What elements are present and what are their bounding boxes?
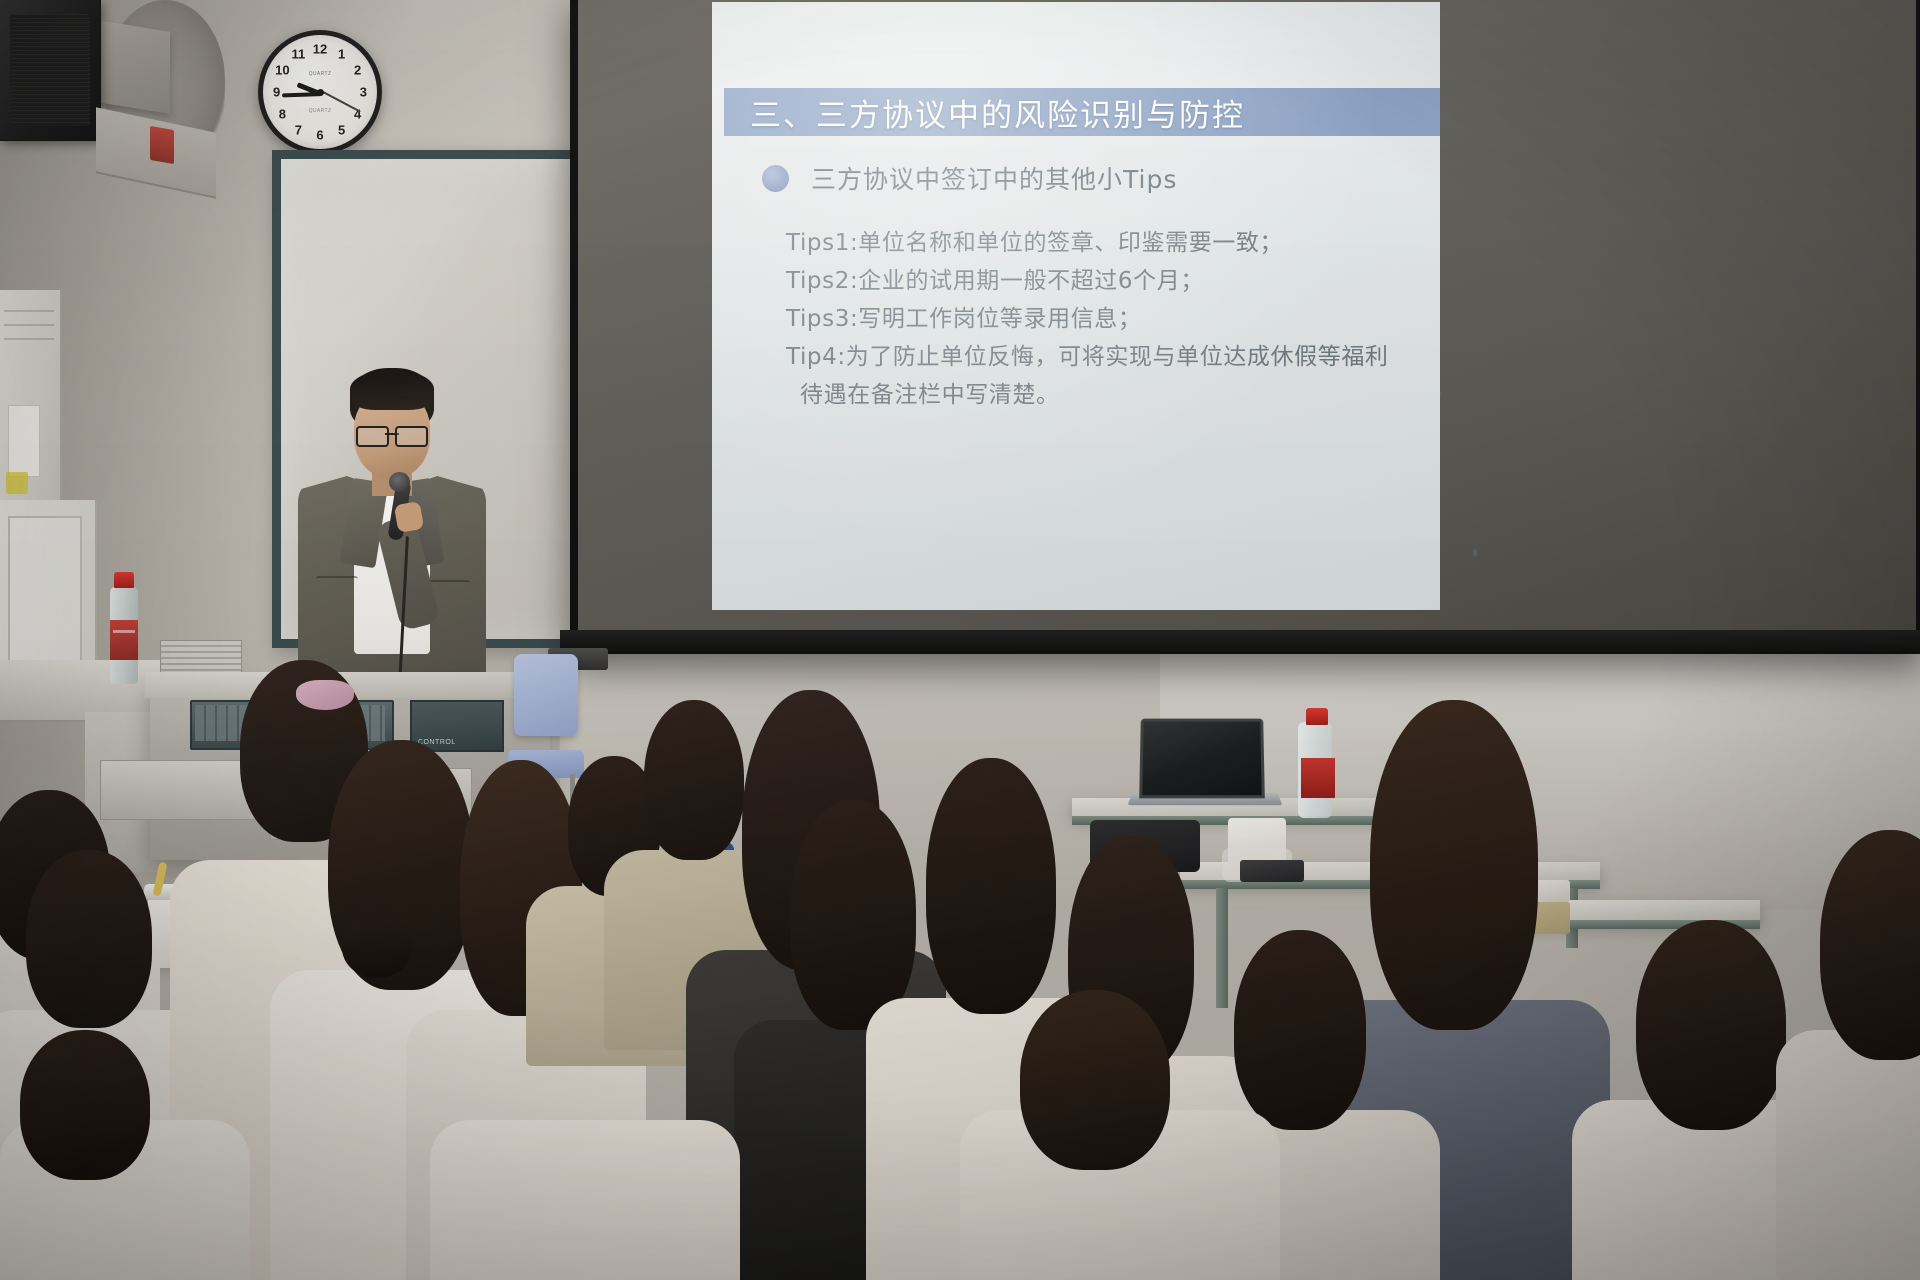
speaker-grille-icon [10, 14, 90, 126]
clock-num-9: 9 [273, 85, 280, 100]
clock-num-2: 2 [354, 63, 361, 78]
speaker-sticker [150, 126, 174, 164]
slide-body-line-2: Tips2:企业的试用期一般不超过6个月； [786, 262, 1406, 300]
screen-bottom-bar [560, 630, 1920, 652]
hair-tie [342, 918, 412, 978]
student-clothing [1776, 1030, 1920, 1280]
presenter-hand [394, 501, 424, 533]
clock-num-1: 1 [338, 47, 345, 62]
clock-num-6: 6 [316, 128, 323, 143]
student-back-of-head [960, 990, 1260, 1280]
slide-body-text: Tips1:单位名称和单位的签章、印鉴需要一致； Tips2:企业的试用期一般不… [786, 224, 1406, 414]
clock-center-hub [317, 89, 324, 96]
slide-body-line-3: Tips3:写明工作岗位等录用信息； [786, 300, 1406, 338]
slide-body-line-5: 待遇在备注栏中写清楚。 [786, 376, 1406, 414]
clock-num-8: 8 [279, 106, 286, 121]
student-back-of-head [430, 1060, 730, 1280]
student-hair [26, 850, 152, 1028]
clock-num-11: 11 [291, 47, 305, 62]
student-hair [1636, 920, 1786, 1130]
speaker-bracket [98, 20, 170, 113]
clock-brand: QUARTZ [309, 71, 332, 77]
presenter-hair-front [350, 370, 434, 410]
slide-bullet-heading: 三方协议中签订中的其他小Tips [762, 160, 1177, 196]
slide-body-line-4: Tip4:为了防止单位反悔，可将实现与单位达成休假等福利 [786, 338, 1406, 376]
water-bottle-podium [106, 572, 142, 684]
bullet-dot-icon [762, 165, 789, 192]
wall-speaker [0, 0, 101, 141]
student-hair [1020, 990, 1170, 1170]
panel-warning-badge [6, 472, 28, 494]
student-back-of-head [0, 1030, 240, 1280]
chair-backrest [514, 654, 578, 736]
presenter-pocket-left [316, 576, 358, 608]
clock-sublabel: QUARTZ [309, 108, 332, 114]
slide-body-line-1: Tips1:单位名称和单位的签章、印鉴需要一致； [786, 224, 1406, 262]
classroom-scene: 12 1 2 3 4 5 6 7 8 9 10 11 QUARTZ QUARTZ [0, 0, 1920, 1280]
clock-num-10: 10 [275, 63, 289, 78]
bottle-cap [114, 572, 134, 588]
panel-label-card [8, 405, 40, 477]
slide-bullet-text: 三方协议中签订中的其他小Tips [811, 160, 1177, 196]
phone-on-desk[interactable] [1240, 860, 1304, 882]
student-clothing [430, 1120, 740, 1280]
clock-num-3: 3 [360, 85, 367, 100]
clock-num-7: 7 [295, 122, 302, 137]
projected-slide: 三、三方协议中的风险识别与防控 三方协议中签订中的其他小Tips Tips1:单… [712, 2, 1440, 610]
bottle-label [110, 620, 138, 660]
clock-num-12: 12 [313, 41, 327, 56]
student-back-of-head [1796, 830, 1920, 1280]
student-hair [20, 1030, 150, 1180]
wall-clock: 12 1 2 3 4 5 6 7 8 9 10 11 QUARTZ QUARTZ [258, 30, 382, 154]
presenter [292, 368, 492, 708]
student-laptop[interactable] [1130, 718, 1265, 813]
student-hair [1820, 830, 1920, 1060]
student-hair [790, 800, 916, 1030]
screen-speck [1473, 548, 1477, 557]
student-hair [926, 758, 1056, 1014]
bottle-label [1301, 758, 1335, 798]
microphone-head-icon [389, 472, 410, 492]
water-bottle-desk-right [1298, 708, 1336, 818]
hair-scrunchie [296, 680, 354, 710]
slide-title-text: 三、三方协议中的风险识别与防控 [724, 90, 1245, 135]
clock-num-5: 5 [338, 122, 345, 137]
bottle-cap [1306, 708, 1328, 725]
slide-title-bar: 三、三方协议中的风险识别与防控 [724, 88, 1440, 136]
laptop-screen [1139, 719, 1265, 799]
presenter-glasses [356, 426, 428, 443]
